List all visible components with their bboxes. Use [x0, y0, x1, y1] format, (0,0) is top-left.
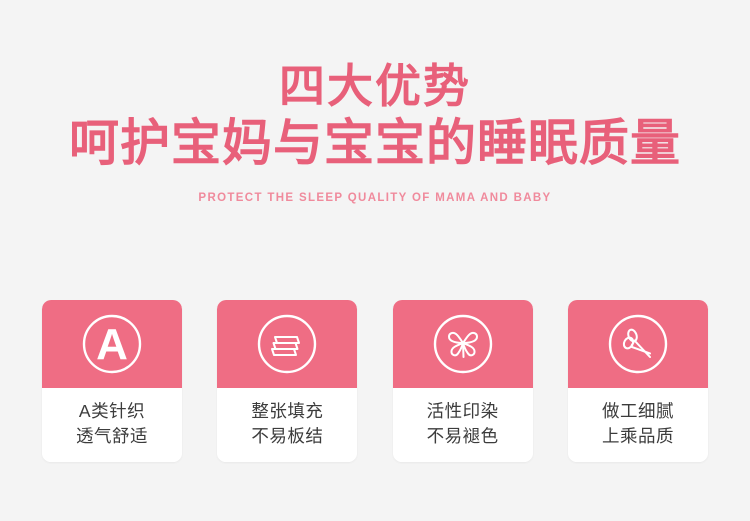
card-label-line-1: A类针织 [79, 399, 145, 424]
card-text-body: 活性印染 不易褪色 [393, 388, 533, 462]
card-label-line-1: 做工细腻 [602, 399, 674, 424]
clover-flower-icon [431, 312, 495, 376]
feature-cards-row: A A类针织 透气舒适 整张填充 [42, 300, 708, 462]
card-text-body: A类针织 透气舒适 [42, 388, 182, 462]
card-label-line-1: 活性印染 [427, 399, 499, 424]
page-title-line-2: 呵护宝妈与宝宝的睡眠质量 [0, 114, 750, 172]
card-text-body: 做工细腻 上乘品质 [568, 388, 708, 462]
svg-text:A: A [96, 320, 128, 369]
card-icon-header [568, 300, 708, 388]
card-label-line-2: 上乘品质 [602, 424, 674, 449]
card-text-body: 整张填充 不易板结 [217, 388, 357, 462]
feature-card-whole-sheet-fill[interactable]: 整张填充 不易板结 [217, 300, 357, 462]
page-subtitle: PROTECT THE SLEEP QUALITY OF MAMA AND BA… [0, 172, 750, 206]
card-icon-header [217, 300, 357, 388]
stacked-layers-icon [255, 312, 319, 376]
circled-letter-a-icon: A [80, 312, 144, 376]
card-icon-header [393, 300, 533, 388]
feature-card-fine-workmanship[interactable]: 做工细腻 上乘品质 [568, 300, 708, 462]
page-title-line-1: 四大优势 [0, 0, 750, 114]
header-block: 四大优势 呵护宝妈与宝宝的睡眠质量 PROTECT THE SLEEP QUAL… [0, 0, 750, 206]
feature-card-reactive-dyeing[interactable]: 活性印染 不易褪色 [393, 300, 533, 462]
scissors-icon [606, 312, 670, 376]
card-label-line-2: 不易板结 [251, 424, 323, 449]
card-label-line-2: 透气舒适 [76, 424, 148, 449]
feature-card-a-class-knit[interactable]: A A类针织 透气舒适 [42, 300, 182, 462]
card-label-line-1: 整张填充 [251, 399, 323, 424]
card-label-line-2: 不易褪色 [427, 424, 499, 449]
card-icon-header: A [42, 300, 182, 388]
